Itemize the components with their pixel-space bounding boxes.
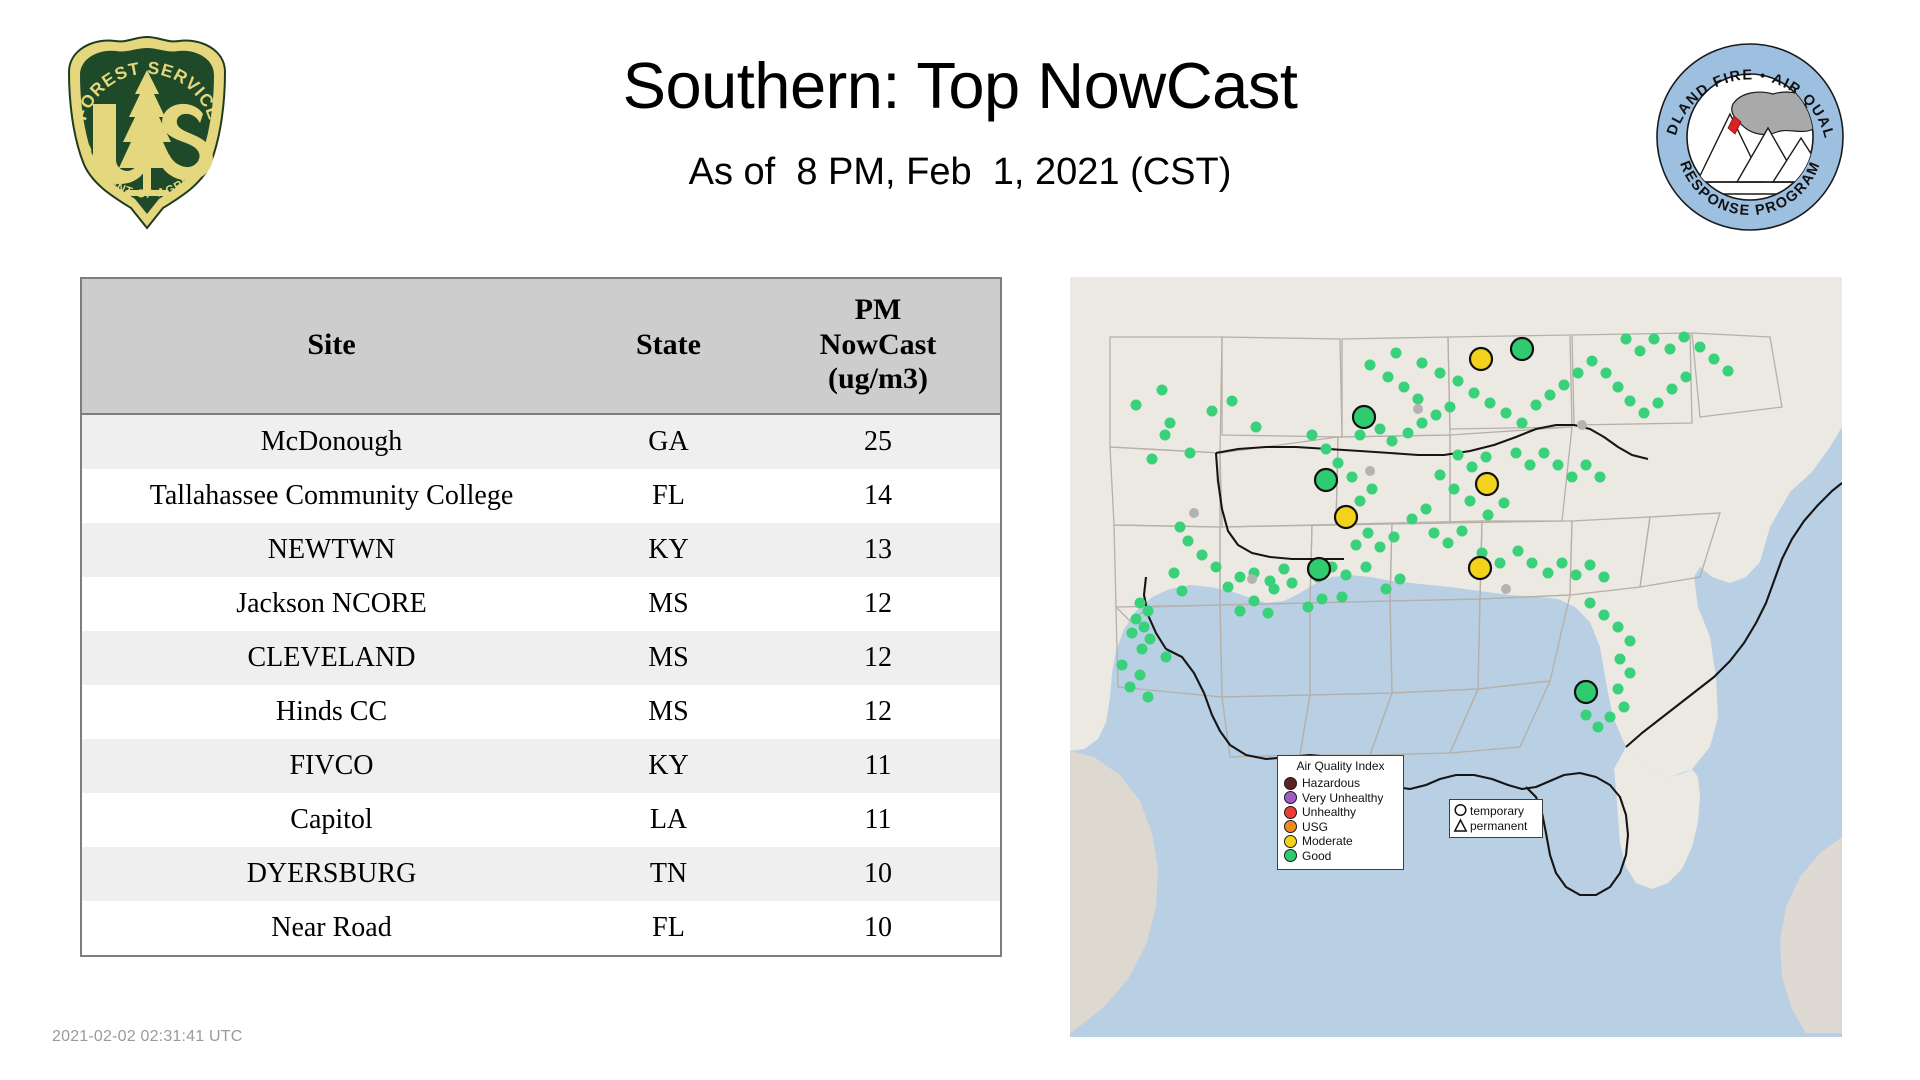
map-site-marker[interactable] xyxy=(1575,681,1597,703)
pm-nowcast-cell: 10 xyxy=(756,847,1001,901)
nowcast-table-container: Site State PM NowCast (ug/m3) McDonoughG… xyxy=(80,277,1000,957)
site-cell: Hinds CC xyxy=(81,685,581,739)
site-cell: Capitol xyxy=(81,793,581,847)
pm-nowcast-cell: 12 xyxy=(756,577,1001,631)
aqi-legend-swatch xyxy=(1284,835,1297,848)
state-cell: TN xyxy=(581,847,756,901)
table-row: DYERSBURGTN10 xyxy=(81,847,1001,901)
pm-nowcast-cell: 25 xyxy=(756,414,1001,469)
aqi-legend-label: USG xyxy=(1302,821,1328,834)
pm-nowcast-cell: 12 xyxy=(756,631,1001,685)
aqi-legend-label: Very Unhealthy xyxy=(1302,792,1383,805)
table-row: Hinds CCMS12 xyxy=(81,685,1001,739)
aqi-legend-swatch xyxy=(1284,777,1297,790)
map-site-marker[interactable] xyxy=(1353,406,1375,428)
aqi-legend-rows: HazardousVery UnhealthyUnhealthyUSGModer… xyxy=(1284,776,1397,863)
column-header-state: State xyxy=(581,278,756,414)
aqi-legend-swatch xyxy=(1284,849,1297,862)
table-row: McDonoughGA25 xyxy=(81,414,1001,469)
table-row: NEWTWNKY13 xyxy=(81,523,1001,577)
map-site-marker[interactable] xyxy=(1315,469,1337,491)
state-cell: MS xyxy=(581,577,756,631)
state-cell: FL xyxy=(581,469,756,523)
aqi-legend-item: Moderate xyxy=(1284,834,1397,849)
state-cell: GA xyxy=(581,414,756,469)
aqi-legend-label: Good xyxy=(1302,850,1331,863)
wfaqrp-program-icon: WILDLAND FIRE • AIR QUALITY RESPONSE PRO… xyxy=(1655,42,1845,232)
pm-nowcast-cell: 10 xyxy=(756,901,1001,956)
marker-shapes-icon xyxy=(1453,803,1468,835)
table-row: CLEVELANDMS12 xyxy=(81,631,1001,685)
site-cell: DYERSBURG xyxy=(81,847,581,901)
nowcast-table: Site State PM NowCast (ug/m3) McDonoughG… xyxy=(80,277,1002,957)
map-site-marker[interactable] xyxy=(1470,348,1492,370)
page-subtitle: As of 8 PM, Feb 1, 2021 (CST) xyxy=(300,151,1620,194)
table-row: Tallahassee Community CollegeFL14 xyxy=(81,469,1001,523)
map-site-marker[interactable] xyxy=(1335,506,1357,528)
marker-legend-permanent: permanent xyxy=(1470,819,1527,834)
state-cell: LA xyxy=(581,793,756,847)
site-cell: NEWTWN xyxy=(81,523,581,577)
page-header: FOREST SERVICE DEPARTMENT OF AGRICULTURE… xyxy=(0,0,1920,265)
aqi-legend-label: Unhealthy xyxy=(1302,806,1356,819)
aqi-legend-swatch xyxy=(1284,806,1297,819)
site-cell: CLEVELAND xyxy=(81,631,581,685)
title-block: Southern: Top NowCast As of 8 PM, Feb 1,… xyxy=(300,50,1620,194)
column-header-pm-nowcast: PM NowCast (ug/m3) xyxy=(756,278,1001,414)
table-body: McDonoughGA25Tallahassee Community Colle… xyxy=(81,414,1001,956)
state-cell: KY xyxy=(581,523,756,577)
table-row: FIVCOKY11 xyxy=(81,739,1001,793)
pm-nowcast-cell: 11 xyxy=(756,739,1001,793)
marker-legend-temporary: temporary xyxy=(1470,804,1527,819)
state-cell: KY xyxy=(581,739,756,793)
site-cell: FIVCO xyxy=(81,739,581,793)
site-cell: Tallahassee Community College xyxy=(81,469,581,523)
aqi-legend-swatch xyxy=(1284,791,1297,804)
state-cell: FL xyxy=(581,901,756,956)
map-site-marker[interactable] xyxy=(1476,473,1498,495)
pm-nowcast-cell: 13 xyxy=(756,523,1001,577)
site-cell: Near Road xyxy=(81,901,581,956)
aqi-legend-item: Very Unhealthy xyxy=(1284,791,1397,806)
table-row: Near RoadFL10 xyxy=(81,901,1001,956)
aqi-legend-item: USG xyxy=(1284,820,1397,835)
marker-type-legend: temporary permanent xyxy=(1449,799,1543,838)
table-header-row: Site State PM NowCast (ug/m3) xyxy=(81,278,1001,414)
usfs-shield-icon: FOREST SERVICE DEPARTMENT OF AGRICULTURE xyxy=(55,32,240,232)
aqi-legend-item: Unhealthy xyxy=(1284,805,1397,820)
map-canvas xyxy=(1070,277,1842,1037)
aqi-legend-label: Moderate xyxy=(1302,835,1353,848)
column-header-site: Site xyxy=(81,278,581,414)
pm-nowcast-cell: 12 xyxy=(756,685,1001,739)
aqi-legend: Air Quality Index HazardousVery Unhealth… xyxy=(1277,755,1404,870)
table-row: CapitolLA11 xyxy=(81,793,1001,847)
aqi-legend-item: Good xyxy=(1284,849,1397,864)
state-cell: MS xyxy=(581,631,756,685)
aqi-monitor-map[interactable] xyxy=(1070,277,1842,1037)
generation-timestamp: 2021-02-02 02:31:41 UTC xyxy=(52,1028,243,1046)
page-title: Southern: Top NowCast xyxy=(300,50,1620,123)
aqi-legend-swatch xyxy=(1284,820,1297,833)
map-site-marker[interactable] xyxy=(1469,557,1491,579)
aqi-legend-item: Hazardous xyxy=(1284,776,1397,791)
pm-nowcast-cell: 11 xyxy=(756,793,1001,847)
aqi-legend-title: Air Quality Index xyxy=(1284,760,1397,773)
pm-nowcast-cell: 14 xyxy=(756,469,1001,523)
table-row: Jackson NCOREMS12 xyxy=(81,577,1001,631)
state-cell: MS xyxy=(581,685,756,739)
map-site-marker[interactable] xyxy=(1511,338,1533,360)
site-cell: Jackson NCORE xyxy=(81,577,581,631)
aqi-legend-label: Hazardous xyxy=(1302,777,1360,790)
site-cell: McDonough xyxy=(81,414,581,469)
map-site-marker[interactable] xyxy=(1308,558,1330,580)
